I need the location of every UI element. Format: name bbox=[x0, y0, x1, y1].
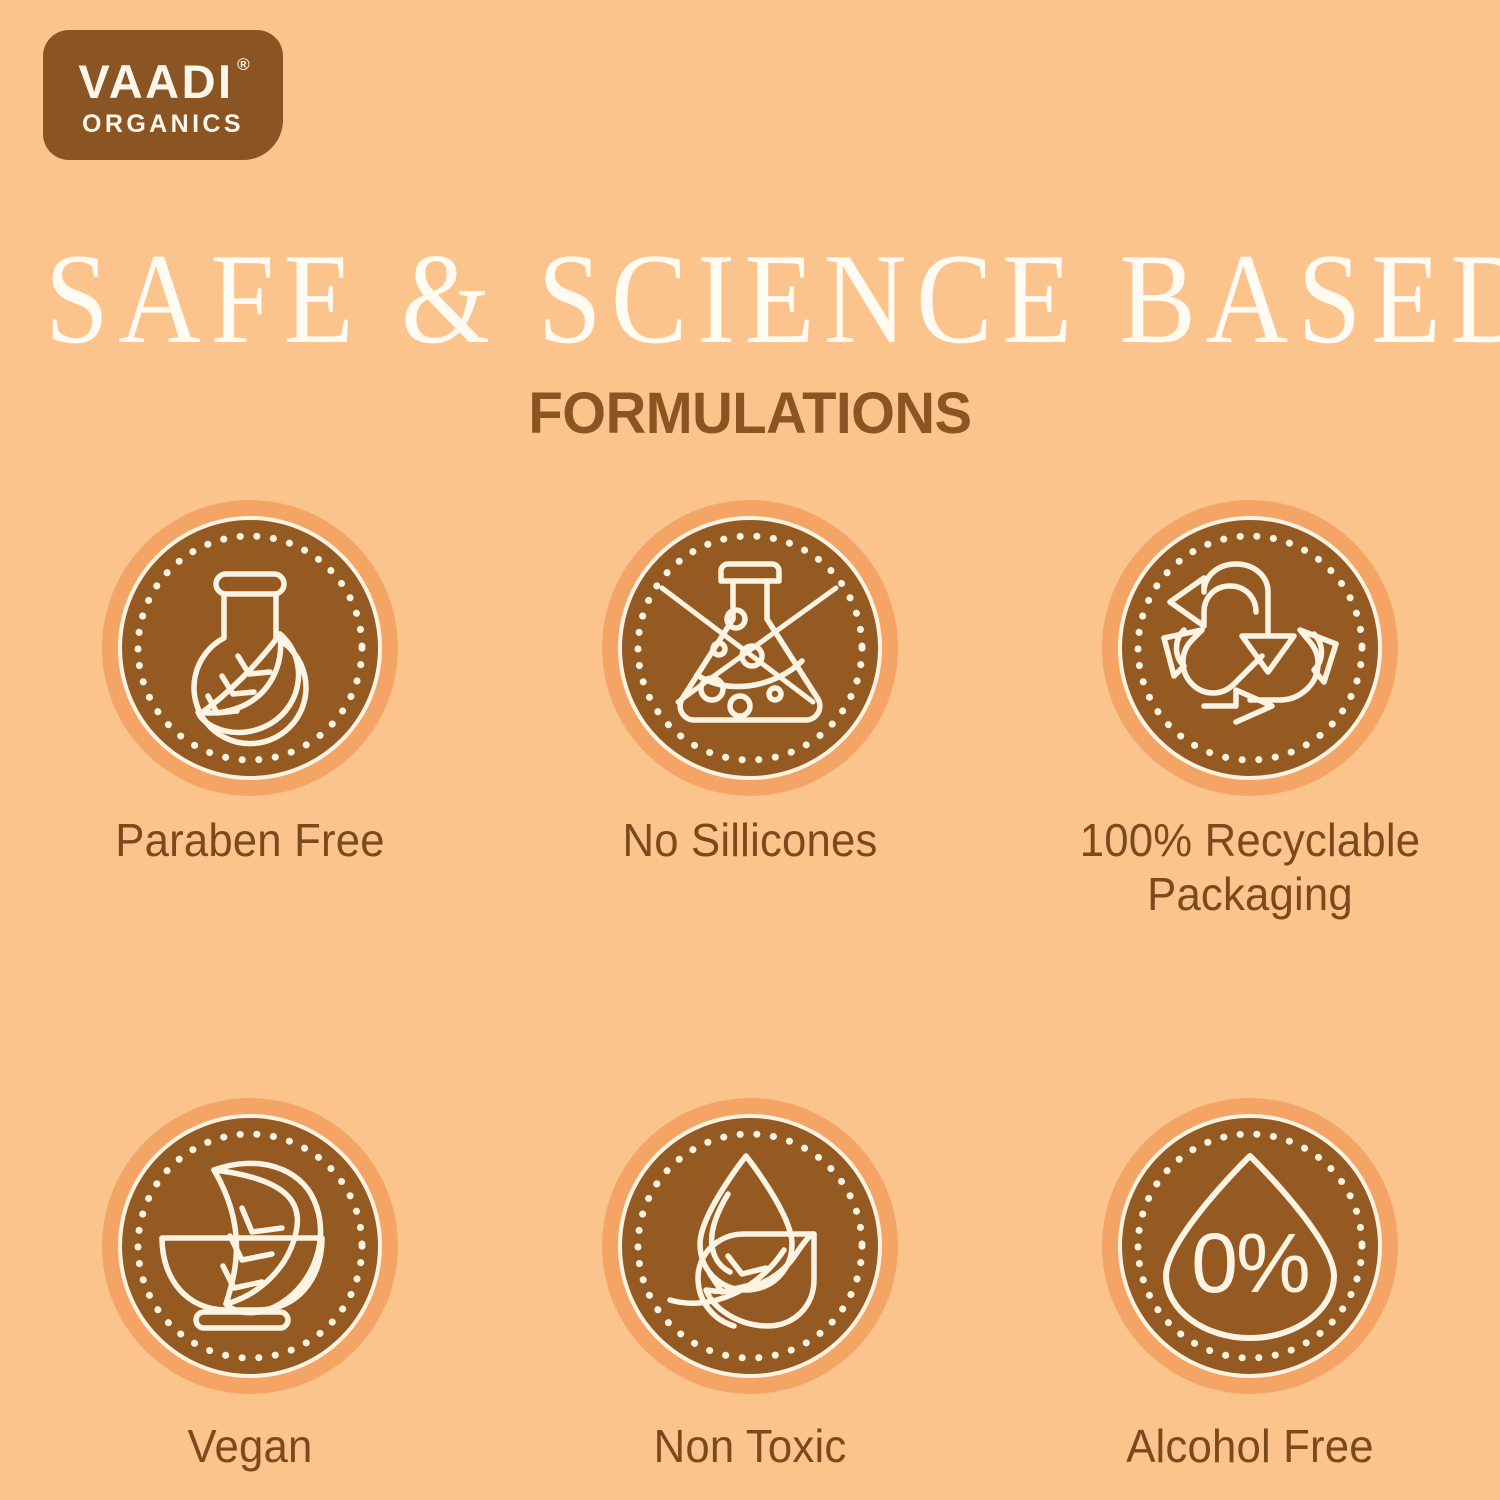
badge-recyclable-packaging bbox=[1102, 500, 1398, 796]
droplet-leaf-icon bbox=[618, 1114, 882, 1378]
feature-badge-grid: Paraben Free bbox=[0, 500, 1500, 1473]
badge-alcohol-free: 0% bbox=[1102, 1098, 1398, 1394]
logo-subtitle: ORGANICS bbox=[82, 112, 244, 137]
zero-percent-text: 0% bbox=[1191, 1216, 1308, 1310]
badge-non-toxic bbox=[602, 1098, 898, 1394]
page-headline: SAFE & SCIENCE BASED bbox=[45, 235, 1455, 364]
badge-row-bottom: Vegan bbox=[0, 1098, 1500, 1474]
registered-trademark-icon: ® bbox=[237, 56, 250, 73]
zero-percent-droplet-icon: 0% bbox=[1118, 1114, 1382, 1378]
badge-label: No Sillicones bbox=[532, 814, 969, 868]
feature-cell-vegan: Vegan bbox=[0, 1098, 500, 1474]
badge-row-top: Paraben Free bbox=[0, 500, 1500, 922]
feature-cell-no-sillicones: No Sillicones bbox=[500, 500, 1000, 922]
badge-no-sillicones bbox=[602, 500, 898, 796]
badge-label: Non Toxic bbox=[532, 1420, 969, 1474]
badge-label: 100% Recyclable Packaging bbox=[1032, 814, 1469, 922]
badge-label: Vegan bbox=[32, 1420, 469, 1474]
logo-brand-name: VAADI® bbox=[78, 58, 247, 105]
badge-label: Paraben Free bbox=[32, 814, 469, 868]
page-subheadline: FORMULATIONS bbox=[23, 385, 1478, 443]
recycle-icon bbox=[1118, 516, 1382, 780]
bowl-leaf-icon bbox=[118, 1114, 382, 1378]
badge-label: Alcohol Free bbox=[1032, 1420, 1469, 1474]
flask-leaf-icon bbox=[118, 516, 382, 780]
badge-paraben-free bbox=[102, 500, 398, 796]
feature-cell-alcohol-free: 0% Alcohol Free bbox=[1000, 1098, 1500, 1474]
badge-vegan bbox=[102, 1098, 398, 1394]
feature-cell-paraben-free: Paraben Free bbox=[0, 500, 500, 922]
feature-cell-recyclable-packaging: 100% Recyclable Packaging bbox=[1000, 500, 1500, 922]
feature-cell-non-toxic: Non Toxic bbox=[500, 1098, 1000, 1474]
brand-logo: VAADI® ORGANICS bbox=[43, 30, 283, 160]
no-silicones-icon bbox=[618, 516, 882, 780]
